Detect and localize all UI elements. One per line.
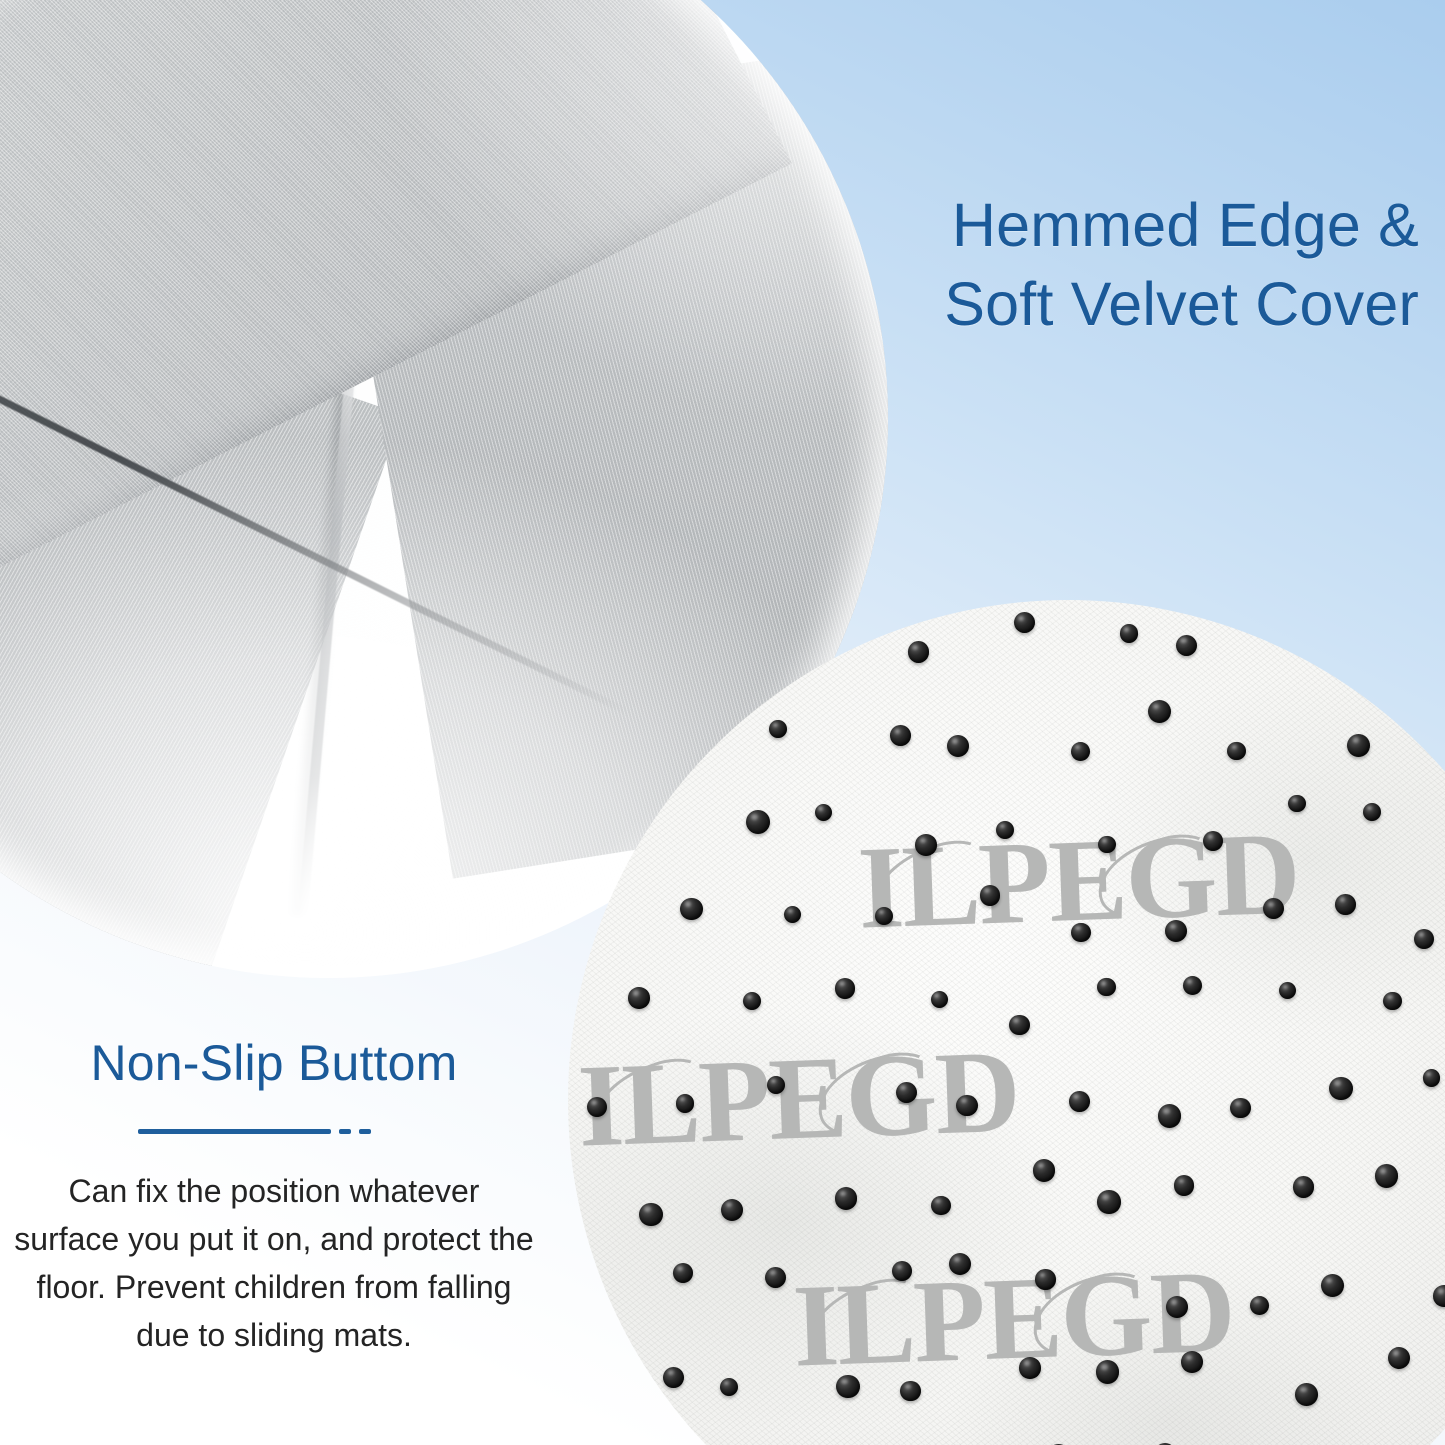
brand-watermark-swash	[808, 1043, 948, 1149]
nonslip-dot	[1019, 1357, 1041, 1379]
nonslip-dot	[765, 1267, 786, 1288]
nonslip-dot	[721, 1199, 743, 1221]
nonslip-dot	[1293, 1176, 1315, 1198]
nonslip-dot	[836, 1375, 860, 1399]
nonslip-dot	[1203, 831, 1223, 851]
nonslip-dot	[1181, 1351, 1203, 1373]
divider-dash-2	[359, 1129, 371, 1134]
nonslip-dot	[1165, 920, 1187, 942]
nonslip-dot	[720, 1378, 738, 1396]
feature-title: Non-Slip Buttom	[14, 1035, 534, 1091]
nonslip-dot	[1069, 1091, 1090, 1112]
nonslip-dot	[1279, 982, 1296, 999]
nonslip-dot	[1035, 1269, 1055, 1289]
nonslip-dot	[1158, 1104, 1181, 1127]
nonslip-dot	[628, 987, 650, 1009]
nonslip-dot	[947, 735, 969, 757]
nonslip-dot	[1347, 734, 1370, 757]
nonslip-dot	[1097, 1190, 1120, 1213]
nonslip-dot	[1329, 1077, 1353, 1101]
nonslip-dot	[1295, 1383, 1318, 1406]
nonslip-dot	[980, 885, 1000, 905]
nonslip-dot	[1227, 742, 1246, 761]
nonslip-dot	[1071, 742, 1090, 761]
nonslip-dot	[1148, 700, 1171, 723]
nonslip-dot	[931, 1196, 950, 1215]
nonslip-dot	[1375, 1164, 1398, 1187]
nonslip-dot	[676, 1094, 695, 1113]
nonslip-dot	[1009, 1015, 1030, 1036]
nonslip-dot	[908, 641, 930, 663]
divider-dash-1	[339, 1129, 351, 1134]
nonslip-dot	[1097, 978, 1115, 996]
nonslip-dot	[680, 898, 702, 920]
divider-bar	[138, 1129, 331, 1134]
nonslip-dot	[900, 1381, 920, 1401]
brand-watermark: ILPEGD	[791, 1252, 1235, 1385]
nonslip-dot	[767, 1076, 785, 1094]
nonslip-dot	[663, 1367, 684, 1388]
headline: Hemmed Edge & Soft Velvet Cover	[944, 186, 1419, 345]
nonslip-dot	[1423, 1069, 1440, 1086]
nonslip-dot	[784, 906, 801, 923]
nonslip-dot	[1230, 1098, 1251, 1119]
nonslip-dot	[835, 1187, 857, 1209]
brand-watermark-swash	[796, 1267, 938, 1379]
brand-watermark: ILPEGD	[576, 1032, 1020, 1165]
divider	[14, 1117, 534, 1147]
nonslip-dot	[1363, 803, 1381, 821]
headline-line-1: Hemmed Edge &	[944, 186, 1419, 265]
nonslip-dot	[1383, 992, 1402, 1011]
nonslip-dot	[1414, 929, 1434, 949]
nonslip-dot	[890, 725, 911, 746]
feature-body: Can fix the position whatever surface yo…	[14, 1167, 534, 1359]
nonslip-dot	[746, 810, 770, 834]
nonslip-dot	[673, 1263, 693, 1283]
nonslip-dot	[1388, 1347, 1410, 1369]
nonslip-dot	[1071, 923, 1090, 942]
nonslip-dot	[1250, 1296, 1269, 1315]
nonslip-dot	[1120, 624, 1138, 642]
nonslip-dot	[743, 992, 761, 1010]
nonslip-dot	[1288, 795, 1306, 813]
nonslip-dot	[1176, 635, 1198, 657]
nonslip-dot	[915, 834, 937, 856]
nonslip-dot	[1321, 1274, 1344, 1297]
headline-line-2: Soft Velvet Cover	[944, 265, 1419, 344]
nonslip-dot	[1096, 1360, 1119, 1383]
product-feature-graphic: Hemmed Edge & Soft Velvet Cover ILPEGDIL…	[0, 0, 1445, 1445]
nonslip-dot	[1335, 894, 1356, 915]
nonslip-dot	[931, 991, 948, 1008]
nonslip-dot	[1014, 612, 1035, 633]
feature-block: Non-Slip Buttom Can fix the position wha…	[14, 1035, 534, 1359]
nonslip-dot	[1183, 976, 1202, 995]
nonslip-dot	[896, 1082, 917, 1103]
nonslip-dot	[956, 1095, 978, 1117]
nonslip-dot	[639, 1203, 663, 1227]
nonslip-dot	[1174, 1175, 1194, 1195]
nonslip-dot	[835, 978, 855, 998]
nonslip-dot	[769, 720, 787, 738]
nonslip-dot	[1033, 1159, 1055, 1181]
nonslip-dot	[815, 804, 832, 821]
nonslip-dot	[1166, 1296, 1188, 1318]
nonslip-dot	[1433, 1285, 1445, 1307]
